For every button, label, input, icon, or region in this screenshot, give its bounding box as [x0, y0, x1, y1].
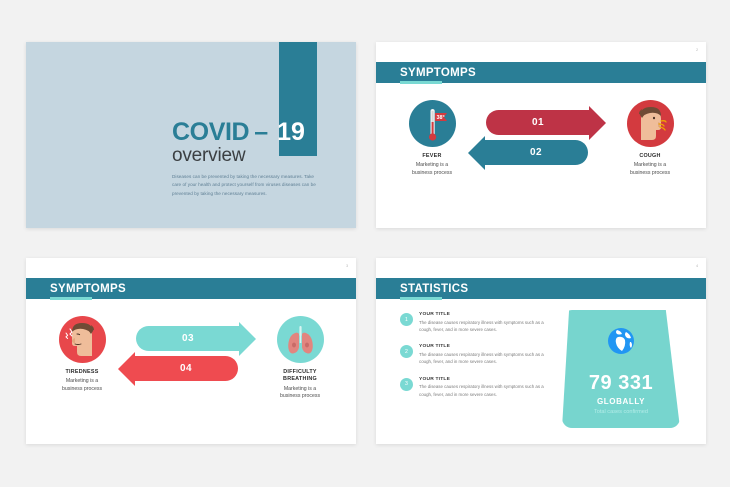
header-underline-accent [400, 297, 442, 300]
symptom-name-line2: BREATHING [252, 376, 348, 383]
page-number: 3 [346, 264, 348, 268]
global-cases-card[interactable]: 79 331 GLOBALLY Total cases confirmed [562, 310, 680, 428]
slide-symptoms-1[interactable]: 2 SYMPTOMPS 38° FEVER Mar [376, 42, 706, 228]
list-item-text: YOUR TITLE The disease causes respirator… [419, 344, 552, 365]
cover-body-text: Diseases can be prevented by taking the … [172, 173, 324, 198]
symptom-node-fever[interactable]: 38° FEVER Marketing is a business proces… [384, 100, 480, 177]
header-underline-accent [400, 81, 442, 84]
lungs-icon [277, 316, 324, 363]
slide-header-band: STATISTICS [376, 278, 706, 299]
symptom-name: TIREDNESS [34, 369, 130, 376]
list-item[interactable]: 2 YOUR TITLE The disease causes respirat… [400, 344, 552, 365]
list-item-body: The disease causes respiratory illness w… [419, 383, 552, 398]
statistics-list: 1 YOUR TITLE The disease causes respirat… [400, 312, 552, 409]
slide-cover[interactable]: COVID – 19 overview Diseases can be prev… [26, 42, 356, 228]
list-item[interactable]: 3 YOUR TITLE The disease causes respirat… [400, 377, 552, 398]
list-item-number: 2 [400, 345, 413, 358]
tired-face-icon [59, 316, 106, 363]
thermometer-icon: 38° [409, 100, 456, 147]
symptom-desc-line1: Marketing is a [602, 162, 698, 170]
coughing-face-icon [627, 100, 674, 147]
page-number: 2 [696, 48, 698, 52]
cover-title-covid: COVID [172, 120, 249, 145]
slide-symptoms-2[interactable]: 3 SYMPTOMPS [26, 258, 356, 444]
slide-header-title: SYMPTOMPS [400, 67, 476, 79]
list-item-title: YOUR TITLE [419, 312, 552, 317]
symptom-desc-line2: business process [252, 393, 348, 401]
symptom-desc-line2: business process [384, 170, 480, 178]
flow-arrow-02[interactable]: 02 [484, 140, 588, 165]
statistics-content: 1 YOUR TITLE The disease causes respirat… [376, 306, 706, 444]
arrow-head-right-icon [589, 106, 606, 140]
flow-arrow-label: 01 [532, 117, 544, 128]
list-item-number: 1 [400, 313, 413, 326]
symptom-desc-line2: business process [602, 170, 698, 178]
list-item-title: YOUR TITLE [419, 344, 552, 349]
cover-subtitle: overview [172, 146, 340, 166]
flow-arrow-label: 02 [530, 147, 542, 158]
page-number: 4 [696, 264, 698, 268]
symptom-node-tiredness[interactable]: TIREDNESS Marketing is a business proces… [34, 316, 130, 393]
card-content: 79 331 GLOBALLY Total cases confirmed [562, 310, 680, 428]
symptom-name-line1: DIFFICULTY [252, 369, 348, 376]
symptom-name: FEVER [384, 153, 480, 160]
slide-header-band: SYMPTOMPS [26, 278, 356, 299]
card-subtitle: GLOBALLY [597, 397, 645, 406]
symptoms-diagram: 38° FEVER Marketing is a business proces… [376, 88, 706, 228]
list-item-body: The disease causes respiratory illness w… [419, 351, 552, 366]
slide-header-title: SYMPTOMPS [50, 283, 126, 295]
symptom-name: COUGH [602, 153, 698, 160]
symptom-node-cough[interactable]: COUGH Marketing is a business process [602, 100, 698, 177]
list-item-text: YOUR TITLE The disease causes respirator… [419, 312, 552, 333]
slide-header-title: STATISTICS [400, 283, 468, 295]
flow-arrow-label: 03 [182, 333, 194, 344]
flow-arrow-label: 04 [180, 363, 192, 374]
card-number: 79 331 [589, 373, 653, 393]
list-item[interactable]: 1 YOUR TITLE The disease causes respirat… [400, 312, 552, 333]
header-underline-accent [50, 297, 92, 300]
slide-statistics[interactable]: 4 STATISTICS 1 YOUR TITLE The disease ca… [376, 258, 706, 444]
symptom-desc-line1: Marketing is a [252, 386, 348, 394]
arrow-head-left-icon [118, 352, 135, 386]
list-item-body: The disease causes respiratory illness w… [419, 319, 552, 334]
slide-header-band: SYMPTOMPS [376, 62, 706, 83]
symptom-node-difficulty-breathing[interactable]: DIFFICULTY BREATHING Marketing is a busi… [252, 316, 348, 401]
card-note: Total cases confirmed [594, 409, 648, 415]
svg-text:38°: 38° [436, 115, 444, 121]
symptom-desc-line2: business process [34, 386, 130, 394]
cover-title-row: COVID – 19 [172, 120, 340, 145]
symptoms-diagram: TIREDNESS Marketing is a business proces… [26, 304, 356, 444]
flow-arrow-03[interactable]: 03 [136, 326, 240, 351]
flow-arrow-04[interactable]: 04 [134, 356, 238, 381]
globe-icon [604, 324, 638, 363]
cover-title-dash: – [254, 120, 268, 145]
arrow-head-right-icon [239, 322, 256, 356]
presentation-thumbnail-grid: COVID – 19 overview Diseases can be prev… [0, 0, 730, 487]
flow-arrow-01[interactable]: 01 [486, 110, 590, 135]
cover-title-number: 19 [277, 120, 305, 145]
symptom-desc-line1: Marketing is a [34, 378, 130, 386]
list-item-number: 3 [400, 378, 413, 391]
arrow-head-left-icon [468, 136, 485, 170]
list-item-title: YOUR TITLE [419, 377, 552, 382]
list-item-text: YOUR TITLE The disease causes respirator… [419, 377, 552, 398]
symptom-desc-line1: Marketing is a [384, 162, 480, 170]
cover-text-block: COVID – 19 overview Diseases can be prev… [172, 120, 340, 198]
